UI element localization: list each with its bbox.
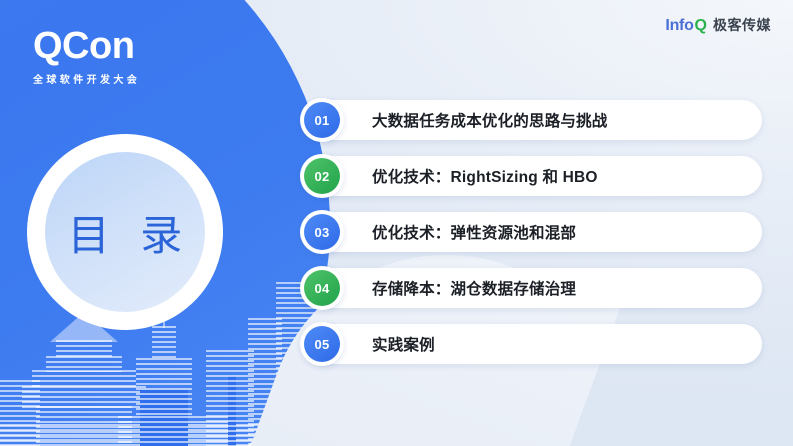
agenda-item-label: 大数据任务成本优化的思路与挑战 (372, 109, 608, 131)
agenda-number: 05 (304, 326, 340, 362)
agenda-item-01[interactable]: 大数据任务成本优化的思路与挑战 01 (300, 100, 770, 140)
agenda-item-label: 优化技术：弹性资源池和混部 (372, 221, 576, 243)
agenda-number: 03 (304, 214, 340, 250)
table-of-contents-inner-circle: 目 录 (45, 152, 205, 312)
page-title: 目 录 (58, 202, 193, 263)
qcon-tagline: 全球软件开发大会 (33, 71, 140, 86)
agenda-item-03[interactable]: 优化技术：弹性资源池和混部 03 (300, 212, 770, 252)
agenda-number-badge: 01 (300, 98, 344, 142)
agenda-bar[interactable]: 存储降本：湖仓数据存储治理 (310, 268, 762, 308)
agenda-item-02[interactable]: 优化技术：RightSizing 和 HBO 02 (300, 156, 770, 196)
infoq-logo: Info Q 极客传媒 (665, 15, 771, 35)
agenda-number: 04 (304, 270, 340, 306)
qcon-wordmark: QCon (33, 27, 140, 65)
agenda-item-label: 实践案例 (372, 333, 435, 355)
agenda-number-badge: 05 (300, 322, 344, 366)
agenda-list: 大数据任务成本优化的思路与挑战 01 优化技术：RightSizing 和 HB… (300, 100, 770, 364)
agenda-bar[interactable]: 优化技术：RightSizing 和 HBO (310, 156, 762, 196)
agenda-item-label: 优化技术：RightSizing 和 HBO (372, 165, 598, 187)
agenda-item-05[interactable]: 实践案例 05 (300, 324, 770, 364)
agenda-item-label: 存储降本：湖仓数据存储治理 (372, 277, 576, 299)
agenda-bar[interactable]: 实践案例 (310, 324, 762, 364)
table-of-contents-circle: 目 录 (27, 134, 223, 330)
agenda-number-badge: 03 (300, 210, 344, 254)
agenda-number: 01 (304, 102, 340, 138)
infoq-q-text: Q (695, 17, 707, 35)
agenda-bar[interactable]: 大数据任务成本优化的思路与挑战 (310, 100, 762, 140)
agenda-number-badge: 02 (300, 154, 344, 198)
qcon-logo: QCon 全球软件开发大会 (33, 27, 140, 86)
presentation-slide: QCon 全球软件开发大会 Info Q 极客传媒 目 录 大数据任务成本优化的… (0, 0, 793, 446)
agenda-number: 02 (304, 158, 340, 194)
agenda-bar[interactable]: 优化技术：弹性资源池和混部 (310, 212, 762, 252)
infoq-info-text: Info (665, 17, 693, 35)
agenda-item-04[interactable]: 存储降本：湖仓数据存储治理 04 (300, 268, 770, 308)
infoq-chinese-text: 极客传媒 (713, 15, 771, 35)
agenda-number-badge: 04 (300, 266, 344, 310)
